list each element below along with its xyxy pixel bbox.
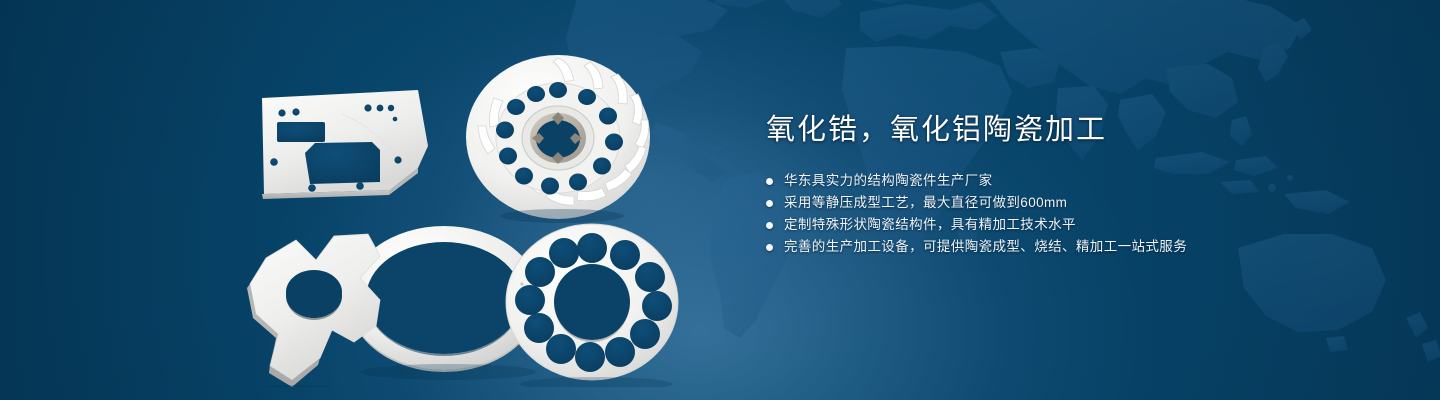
page-title: 氧化锆，氧化铝陶瓷加工 bbox=[766, 112, 1386, 148]
list-item: 采用等静压成型工艺，最大直径可做到600mm bbox=[766, 192, 1386, 214]
feature-text: 定制特殊形状陶瓷结构件，具有精加工技术水平 bbox=[784, 214, 1076, 236]
bullet-dot-icon bbox=[766, 200, 773, 207]
banner-copy: 氧化锆，氧化铝陶瓷加工 华东具实力的结构陶瓷件生产厂家 采用等静压成型工艺，最大… bbox=[766, 112, 1386, 258]
bullet-dot-icon bbox=[766, 178, 773, 185]
list-item: 定制特殊形状陶瓷结构件，具有精加工技术水平 bbox=[766, 214, 1386, 236]
hero-banner: 氧化锆，氧化铝陶瓷加工 华东具实力的结构陶瓷件生产厂家 采用等静压成型工艺，最大… bbox=[0, 0, 1440, 400]
list-item: 华东具实力的结构陶瓷件生产厂家 bbox=[766, 170, 1386, 192]
feature-text: 采用等静压成型工艺，最大直径可做到600mm bbox=[784, 192, 1067, 214]
feature-text: 完善的生产加工设备，可提供陶瓷成型、烧结、精加工一站式服务 bbox=[784, 236, 1187, 258]
feature-text: 华东具实力的结构陶瓷件生产厂家 bbox=[784, 170, 993, 192]
feature-list: 华东具实力的结构陶瓷件生产厂家 采用等静压成型工艺，最大直径可做到600mm 定… bbox=[766, 170, 1386, 258]
ceramic-products-image bbox=[232, 42, 702, 387]
bullet-dot-icon bbox=[766, 244, 773, 251]
bullet-dot-icon bbox=[766, 222, 773, 229]
list-item: 完善的生产加工设备，可提供陶瓷成型、烧结、精加工一站式服务 bbox=[766, 236, 1386, 258]
